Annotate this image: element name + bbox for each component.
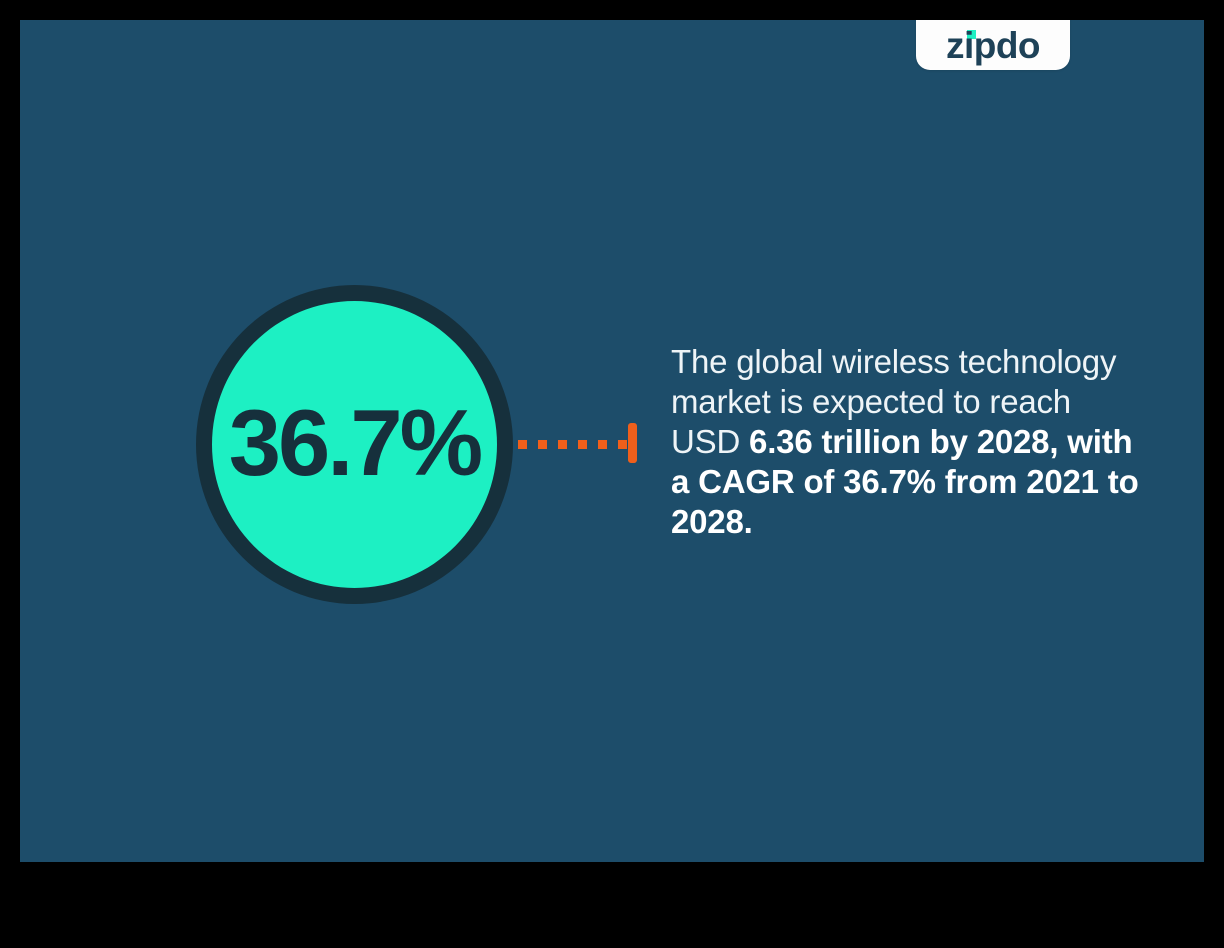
zipdo-logo-badge[interactable]: zipdo	[916, 20, 1070, 70]
slide-canvas: zipdo 36.7% The global wireless technolo…	[0, 0, 1224, 948]
connector-dotted-line	[518, 440, 640, 449]
connector-end-bar-icon	[628, 423, 637, 463]
slide-panel: zipdo 36.7% The global wireless technolo…	[20, 20, 1204, 862]
statistic-value: 36.7%	[229, 396, 481, 490]
connector-dots-icon	[518, 440, 628, 449]
statistic-circle: 36.7%	[196, 285, 513, 604]
zipdo-logo-wordmark: zipdo	[916, 27, 1070, 64]
caption-text-block: The global wireless technology market is…	[671, 342, 1141, 542]
